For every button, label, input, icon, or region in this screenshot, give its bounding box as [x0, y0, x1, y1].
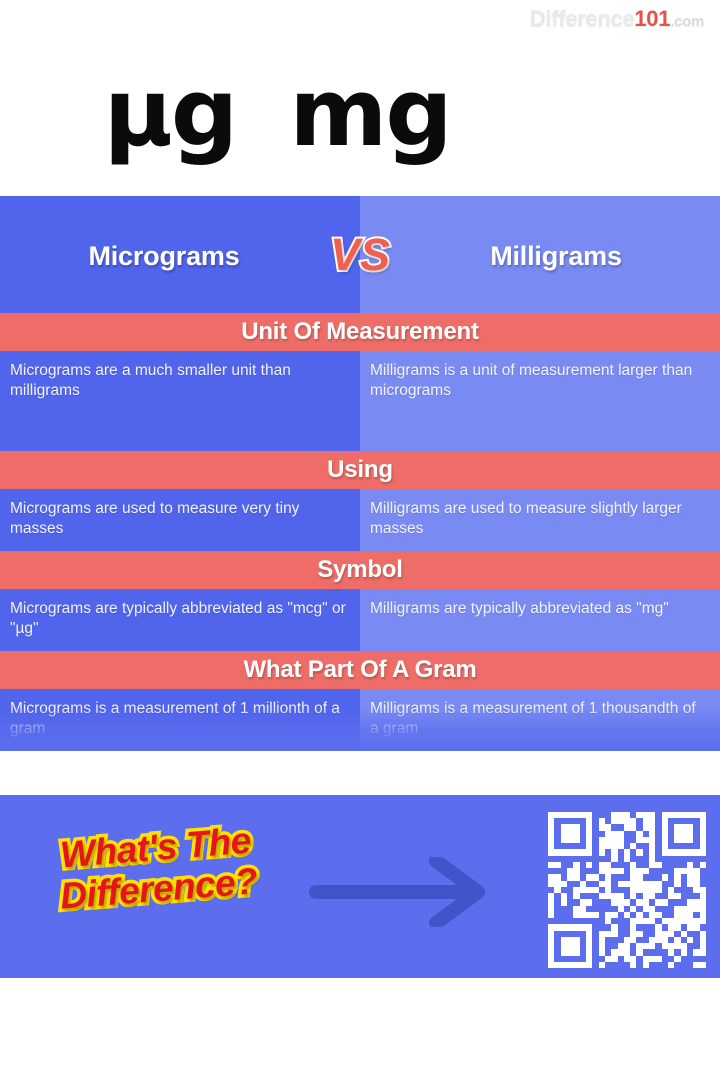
section-2-right-text: Milligrams are typically abbreviated as …	[360, 589, 720, 651]
section-body-2: Micrograms are typically abbreviated as …	[0, 589, 720, 651]
section-body-3: Micrograms is a measurement of 1 million…	[0, 689, 720, 751]
versus-banner: Micrograms VS Milligrams	[0, 176, 720, 313]
versus-badge: VS	[310, 222, 410, 288]
symbol-milligrams: mg	[190, 62, 550, 172]
comparison-sections: Unit Of Measurement Micrograms are a muc…	[0, 313, 720, 751]
header-area: Difference101.com µg mg	[0, 0, 720, 196]
section-0-right-text: Milligrams is a unit of measurement larg…	[360, 351, 720, 451]
brand-number: 101	[634, 6, 670, 31]
section-title-0: Unit Of Measurement	[0, 313, 720, 351]
section-0-left-text: Micrograms are a much smaller unit than …	[0, 351, 360, 451]
section-title-2: Symbol	[0, 551, 720, 589]
section-title-1: Using	[0, 451, 720, 489]
section-3-left-text: Micrograms is a measurement of 1 million…	[0, 689, 360, 751]
footer-cta-bar: What's The Difference?	[0, 795, 720, 978]
banner-label-left: Micrograms	[14, 234, 314, 278]
bottom-white-strip	[0, 978, 720, 1078]
section-title-3: What Part Of A Gram	[0, 651, 720, 689]
qr-code-icon[interactable]	[548, 812, 706, 968]
brand-logo: Difference101.com	[530, 6, 704, 32]
banner-label-right: Milligrams	[406, 234, 706, 278]
section-3-right-text: Milligrams is a measurement of 1 thousan…	[360, 689, 720, 751]
infographic-page: Difference101.com µg mg Micrograms VS Mi…	[0, 0, 720, 1078]
cta-text: What's The Difference?	[19, 817, 295, 920]
section-body-0: Micrograms are a much smaller unit than …	[0, 351, 720, 451]
brand-name: Difference	[530, 6, 635, 31]
arrow-right-icon	[308, 857, 508, 927]
unit-symbols: µg mg	[0, 62, 720, 172]
section-1-right-text: Milligrams are used to measure slightly …	[360, 489, 720, 551]
section-body-1: Micrograms are used to measure very tiny…	[0, 489, 720, 551]
brand-tld: .com	[670, 13, 704, 30]
section-2-left-text: Micrograms are typically abbreviated as …	[0, 589, 360, 651]
section-1-left-text: Micrograms are used to measure very tiny…	[0, 489, 360, 551]
